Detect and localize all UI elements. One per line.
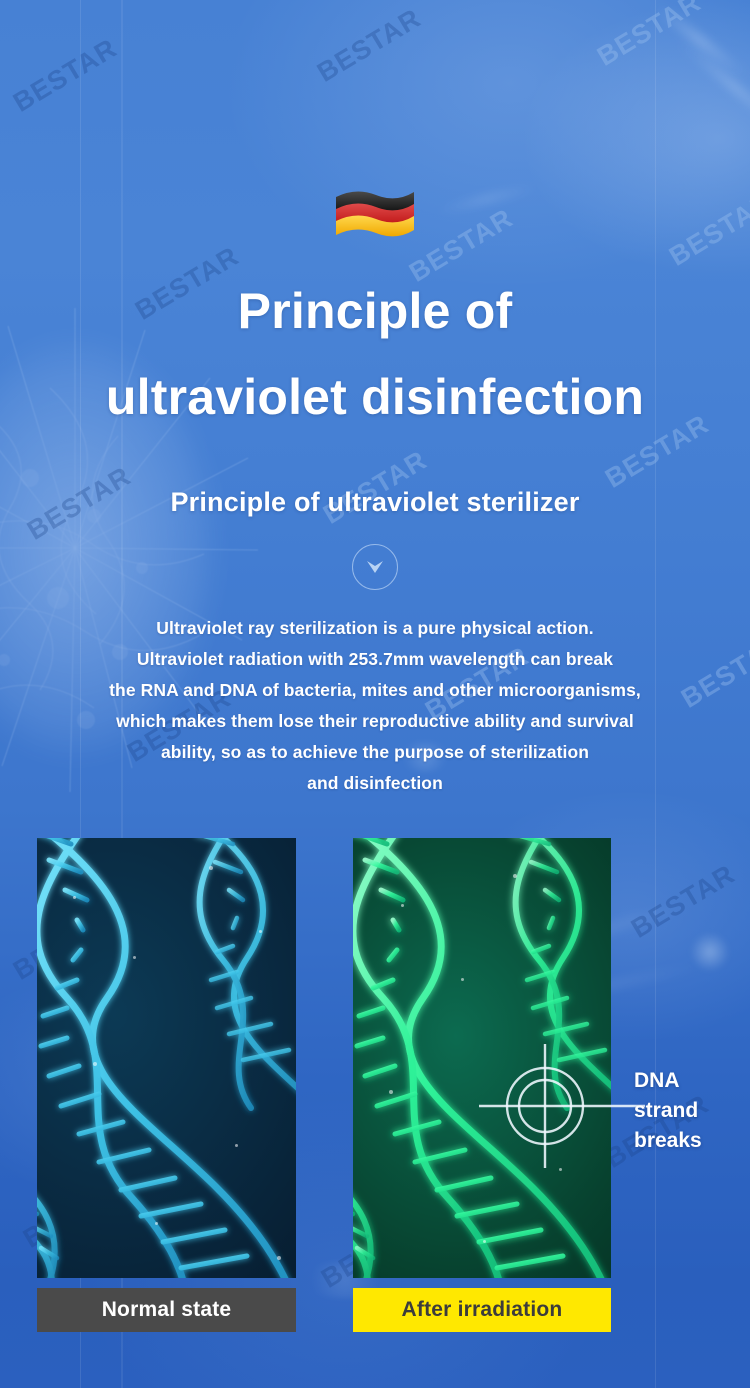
caption-after-irradiation: After irradiation (353, 1288, 611, 1332)
caption-normal-state-label: Normal state (102, 1298, 232, 1322)
body-line: ability, so as to achieve the purpose of… (0, 737, 750, 768)
page-title: Principle of ultraviolet disinfection (0, 268, 750, 440)
annotation-line-1: DNA (634, 1066, 746, 1096)
page-title-line-2: ultraviolet disinfection (0, 354, 750, 440)
body-line: Ultraviolet ray sterilization is a pure … (0, 613, 750, 644)
body-line: the RNA and DNA of bacteria, mites and o… (0, 675, 750, 706)
chevron-down-circle-icon (352, 544, 398, 590)
body-line: and disinfection (0, 768, 750, 799)
dna-strand-breaks-annotation: DNA strand breaks (634, 1066, 746, 1156)
caption-normal-state: Normal state (37, 1288, 296, 1332)
dna-helix-normal-image (37, 838, 296, 1278)
page-subtitle: Principle of ultraviolet sterilizer (0, 487, 750, 518)
annotation-line-2: strand (634, 1096, 746, 1126)
body-line: Ultraviolet radiation with 253.7mm wavel… (0, 644, 750, 675)
body-line: which makes them lose their reproductive… (0, 706, 750, 737)
promo-page: BESTARBESTARBESTARBESTARBESTARBESTARBEST… (0, 0, 750, 1388)
dna-helix-irradiated-image (353, 838, 611, 1278)
german-flag-icon (0, 183, 750, 239)
annotation-line-3: breaks (634, 1126, 746, 1156)
body-paragraph: Ultraviolet ray sterilization is a pure … (0, 613, 750, 799)
page-title-line-1: Principle of (0, 268, 750, 354)
caption-after-irradiation-label: After irradiation (402, 1298, 563, 1322)
section-divider (0, 544, 750, 590)
